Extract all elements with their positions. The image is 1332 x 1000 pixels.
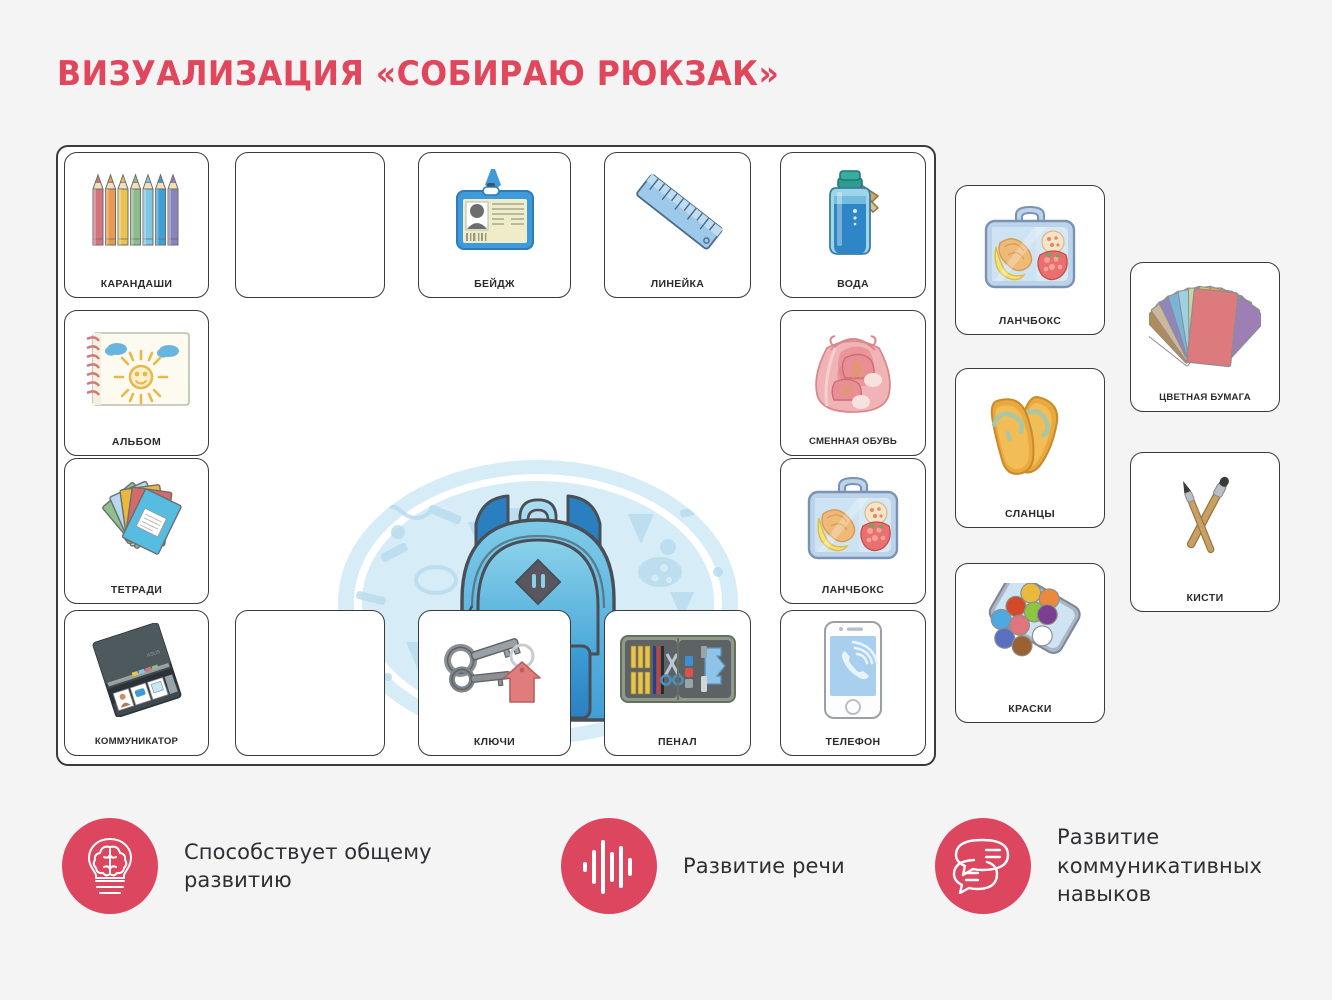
color-paper-icon [1131,263,1279,385]
brushes-icon [1131,453,1279,585]
card-label: ПЕНАЛ [605,737,750,756]
card-label: КОММУНИКАТОР [65,737,208,755]
card-color-paper[interactable]: ЦВЕТНАЯ БУМАГА [1130,262,1280,412]
keys-icon [419,611,570,729]
brain-bulb-icon [62,818,158,914]
card-label: СМЕННАЯ ОБУВЬ [781,437,925,455]
visual-board: КАРАНДАШИ БЕЙДЖ ЛИНЕЙКА ВОДА [56,145,936,766]
card-flip-flops[interactable]: СЛАНЦЫ [955,368,1105,528]
lunchbox-icon [781,459,925,577]
paints-icon [956,564,1104,696]
feature-label: Развитиекоммуникативныхнавыков [1057,823,1262,908]
card-label: ТЕЛЕФОН [781,737,925,756]
card-label: КРАСКИ [956,704,1104,723]
page-title: ВИЗУАЛИЗАЦИЯ «СОБИРАЮ РЮКЗАК» [57,54,779,94]
card-label [236,289,384,297]
card-communicator[interactable]: ASUS КОММУНИКАТОР [64,610,209,756]
water-bottle-icon [781,153,925,271]
card-label [236,747,384,755]
card-shoes-bag[interactable]: СМЕННАЯ ОБУВЬ [780,310,926,456]
card-empty-top[interactable] [235,152,385,298]
pencil-case-icon [605,611,750,729]
feature-communication-skills: Развитиекоммуникативныхнавыков [935,818,1262,914]
card-label: ЛАНЧБОКС [781,585,925,604]
card-empty-bottom[interactable] [235,610,385,756]
badge-icon [419,153,570,271]
feature-speech-development: Развитие речи [561,818,845,914]
card-label: ТЕТРАДИ [65,585,208,604]
sound-wave-icon [561,818,657,914]
card-label: КИСТИ [1131,593,1279,612]
shoe-bag-icon [781,311,925,429]
notebooks-icon [65,459,208,577]
speech-bubbles-icon [935,818,1031,914]
card-brushes[interactable]: КИСТИ [1130,452,1280,612]
card-phone[interactable]: ТЕЛЕФОН [780,610,926,756]
feature-label: Способствует общемуразвитию [184,838,432,895]
card-pencil-case[interactable]: ПЕНАЛ [604,610,751,756]
phone-icon [781,611,925,729]
card-notebooks[interactable]: ТЕТРАДИ [64,458,209,604]
card-keys[interactable]: КЛЮЧИ [418,610,571,756]
card-pencils[interactable]: КАРАНДАШИ [64,152,209,298]
card-album[interactable]: АЛЬБОМ [64,310,209,456]
card-paints[interactable]: КРАСКИ [955,563,1105,723]
card-label: ЛИНЕЙКА [605,279,750,298]
card-label: ВОДА [781,279,925,298]
card-label: КЛЮЧИ [419,737,570,756]
card-label: ЦВЕТНАЯ БУМАГА [1131,393,1279,411]
card-label: КАРАНДАШИ [65,279,208,298]
card-lunchbox-side[interactable]: ЛАНЧБОКС [955,185,1105,335]
card-label: БЕЙДЖ [419,279,570,298]
card-label: АЛЬБОМ [65,437,208,456]
communicator-icon: ASUS [65,611,208,729]
ruler-icon [605,153,750,271]
feature-general-development: Способствует общемуразвитию [62,818,432,914]
album-icon [65,311,208,429]
flip-flops-icon [956,369,1104,501]
pencils-icon [65,153,208,271]
card-label: ЛАНЧБОКС [956,316,1104,335]
card-water[interactable]: ВОДА [780,152,926,298]
lunchbox-icon [956,186,1104,308]
card-ruler[interactable]: ЛИНЕЙКА [604,152,751,298]
card-label: СЛАНЦЫ [956,509,1104,528]
feature-label: Развитие речи [683,852,845,880]
card-lunchbox-in[interactable]: ЛАНЧБОКС [780,458,926,604]
card-badge[interactable]: БЕЙДЖ [418,152,571,298]
